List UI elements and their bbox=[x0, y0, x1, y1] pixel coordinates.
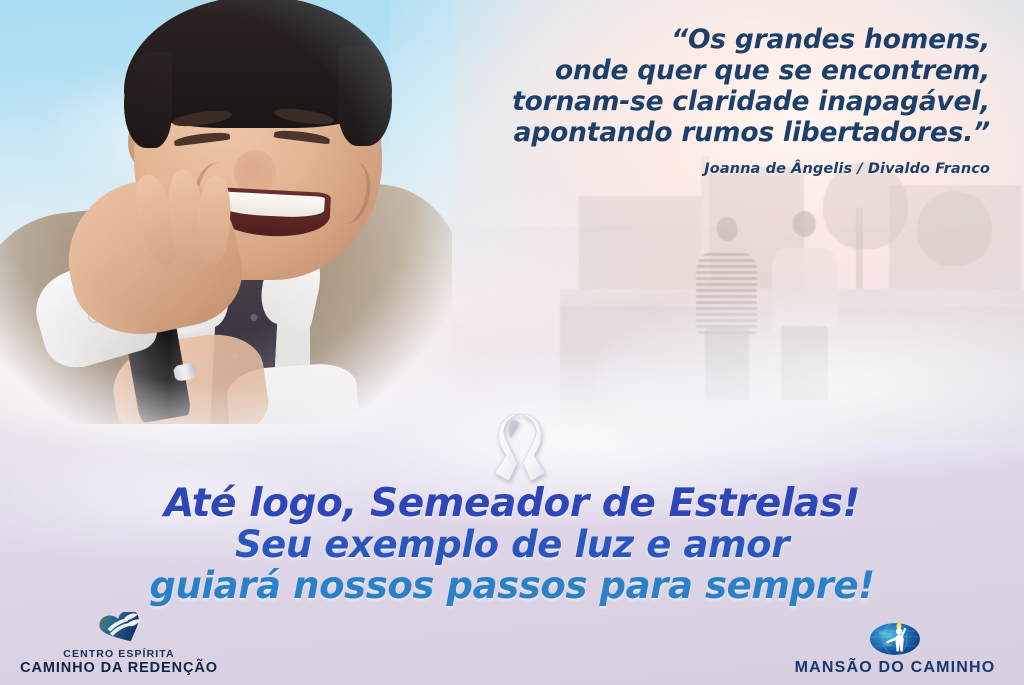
message-line-3: guiará nossos passos para sempre! bbox=[0, 566, 1024, 605]
tribute-message: Até logo, Semeador de Estrelas! Seu exem… bbox=[0, 484, 1024, 605]
logo-centro-espirita: CENTRO ESPÍRITA CAMINHO DA REDENÇÃO bbox=[14, 612, 224, 677]
background-person-striped bbox=[696, 217, 757, 397]
portrait-divaldo-franco bbox=[0, 0, 452, 424]
logo-left-line-2: CAMINHO DA REDENÇÃO bbox=[14, 660, 224, 677]
message-line-1: Até logo, Semeador de Estrelas! bbox=[0, 484, 1024, 523]
logo-right-line-1: MANSÃO DO CAMINHO bbox=[780, 659, 1010, 677]
tribute-poster: “Os grandes homens, onde quer que se enc… bbox=[0, 0, 1024, 685]
logo-left-line-1: CENTRO ESPÍRITA bbox=[14, 648, 224, 660]
white-awareness-ribbon-icon bbox=[487, 411, 553, 487]
message-line-2: Seu exemplo de luz e amor bbox=[0, 525, 1024, 564]
background-photo-plaza bbox=[560, 150, 1024, 440]
globe-figure-torch-icon bbox=[866, 615, 924, 657]
quote-line-2: onde quer que se encontrem, bbox=[430, 55, 990, 86]
quote-line-4: apontando rumos libertadores.” bbox=[430, 117, 990, 148]
quote-block: “Os grandes homens, onde quer que se enc… bbox=[430, 24, 990, 177]
logo-mansao-do-caminho: MANSÃO DO CAMINHO bbox=[780, 615, 1010, 677]
background-person-white bbox=[772, 211, 838, 397]
quote-line-3: tornam-se claridade inapagável, bbox=[430, 86, 990, 117]
quote-line-1: “Os grandes homens, bbox=[430, 24, 990, 55]
quote-attribution: Joanna de Ângelis / Divaldo Franco bbox=[430, 161, 990, 177]
heart-hands-icon bbox=[89, 612, 149, 646]
